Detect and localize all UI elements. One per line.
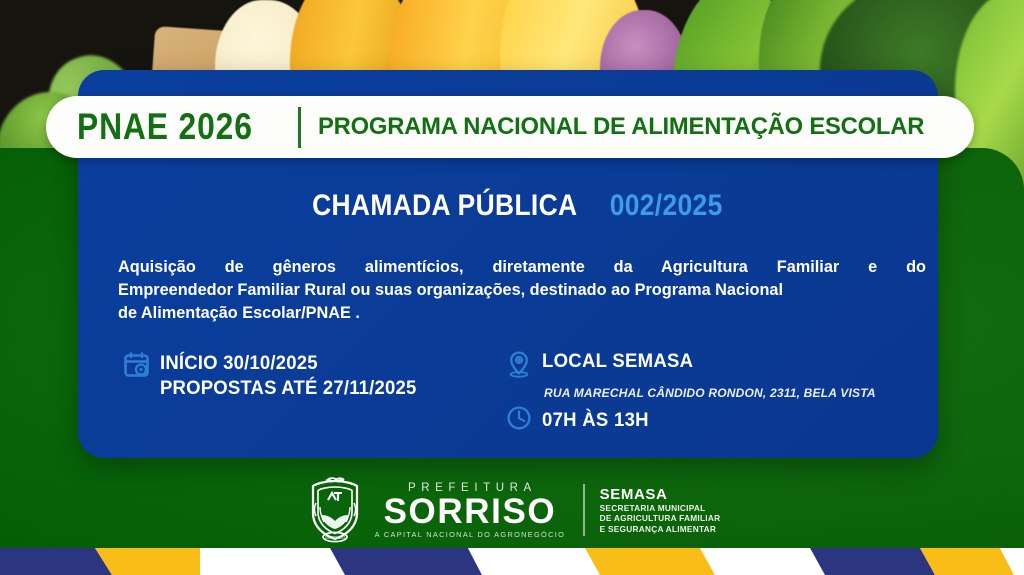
poster-canvas: PNAE 2026 PROGRAMA NACIONAL DE ALIMENTAÇ… — [0, 0, 1024, 575]
sorriso-coat-of-arms-icon: SORRISO — [304, 477, 366, 543]
headline-number: 002/2025 — [610, 189, 723, 223]
footer-logos: SORRISO PREFEITURA SORRISO A CAPITAL NAC… — [0, 474, 1024, 546]
svg-text:SORRISO: SORRISO — [325, 535, 346, 540]
map-pin-icon — [506, 350, 532, 383]
start-date-label: INÍCIO 30/10/2025 — [160, 352, 416, 375]
city-tagline-label: A CAPITAL NACIONAL DO AGRONEGÓCIO — [375, 530, 565, 539]
clock-icon — [506, 405, 532, 436]
dates-block: INÍCIO 30/10/2025 PROPOSTAS ATÉ 27/11/20… — [124, 352, 430, 400]
pill-divider — [298, 107, 301, 148]
description-paragraph: Aquisição de gêneros alimentícios, diret… — [118, 256, 926, 325]
location-block: LOCAL SEMASA RUA MARECHAL CÂNDIDO RONDON… — [506, 350, 886, 436]
semasa-line-3: E SEGURANÇA ALIMENTAR — [600, 524, 721, 534]
semasa-line-1: SECRETARIA MUNICIPAL — [600, 503, 721, 513]
program-title-pill: PNAE 2026 PROGRAMA NACIONAL DE ALIMENTAÇ… — [46, 96, 974, 158]
decorative-bottom-strip — [0, 548, 1024, 575]
description-line-3: de Alimentação Escolar/PNAE . — [118, 302, 926, 325]
program-title-label: PROGRAMA NACIONAL DE ALIMENTAÇÃO ESCOLAR — [318, 113, 924, 141]
deadline-label: PROPOSTAS ATÉ 27/11/2025 — [160, 377, 416, 400]
city-name-label: SORRISO — [384, 494, 557, 530]
description-line-2: Empreendedor Familiar Rural ou suas orga… — [118, 279, 926, 302]
semasa-line-2: DE AGRICULTURA FAMILIAR — [600, 513, 721, 523]
prefeitura-wordmark: PREFEITURA SORRISO A CAPITAL NACIONAL DO… — [375, 482, 565, 539]
footer-divider — [583, 484, 585, 536]
semasa-name-label: SEMASA — [600, 486, 721, 503]
location-title: LOCAL SEMASA — [542, 350, 693, 373]
headline: CHAMADA PÚBLICA 002/2025 — [0, 189, 1024, 223]
strip-blocks — [0, 548, 1024, 575]
location-address: RUA MARECHAL CÂNDIDO RONDON, 2311, BELA … — [544, 386, 876, 400]
description-line-1: Aquisição de gêneros alimentícios, diret… — [118, 256, 926, 279]
hours-label: 07H ÀS 13H — [542, 409, 649, 432]
semasa-wordmark: SEMASA SECRETARIA MUNICIPAL DE AGRICULTU… — [600, 486, 721, 534]
calendar-icon — [124, 352, 149, 400]
headline-main: CHAMADA PÚBLICA — [312, 189, 577, 223]
program-code-label: PNAE 2026 — [77, 106, 253, 148]
